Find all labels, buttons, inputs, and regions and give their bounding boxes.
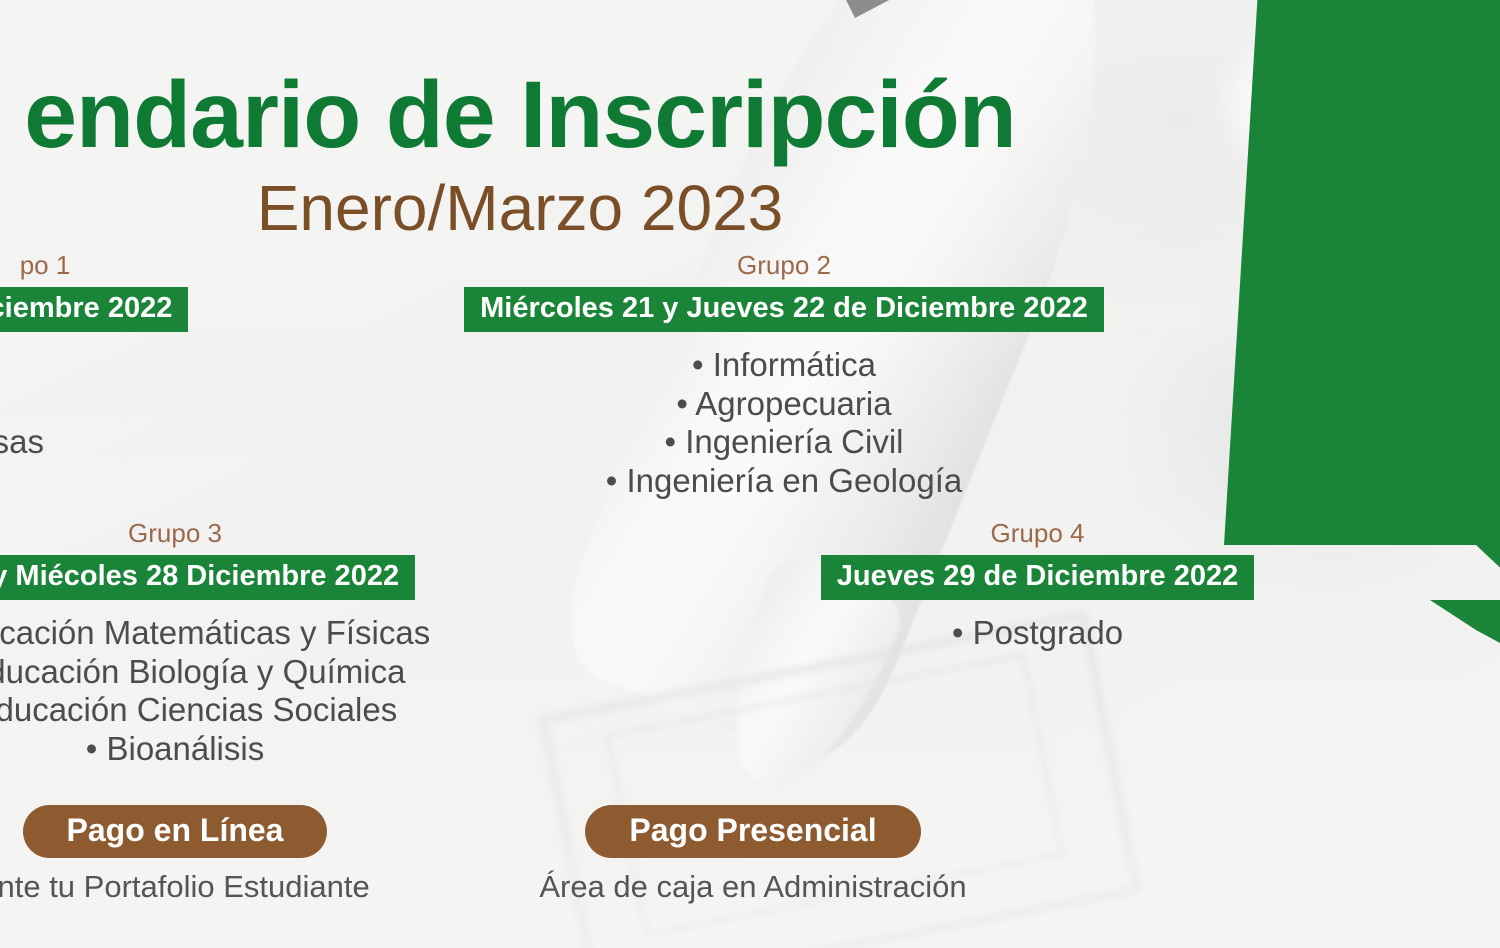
list-item: • Educación Matemáticas y Físicas	[0, 614, 540, 653]
list-item: • Ingeniería en Geología	[409, 462, 1159, 501]
group-label-2: Grupo 2	[409, 252, 1159, 278]
pago-presencial-note: Área de caja en Administración	[528, 871, 978, 902]
list-item: adeo	[0, 346, 330, 385]
group-items-4: • Postgrado	[745, 614, 1330, 653]
group-date-wrap-3: 27 y Miécoles 28 Diciembre 2022	[0, 555, 540, 600]
group-date-badge-1: de Diciembre 2022	[0, 287, 188, 332]
pago-en-linea-badge: Pago en Línea	[23, 805, 328, 858]
group-items-1: adeo bilidad n de Empresas cho	[0, 346, 330, 500]
list-item: • Educación Ciencias Sociales	[0, 691, 540, 730]
payment-option-in-person: Pago Presencial Área de caja en Administ…	[528, 805, 978, 902]
list-item: n de Empresas	[0, 423, 330, 462]
group-items-2: • Informática • Agropecuaria • Ingenierí…	[409, 346, 1159, 500]
group-label-1: po 1	[0, 252, 330, 278]
list-item: • Ingeniería Civil	[409, 423, 1159, 462]
list-item: bilidad	[0, 385, 330, 424]
group-card-2: Grupo 2 Miércoles 21 y Jueves 22 de Dici…	[409, 252, 1159, 500]
group-date-badge-3: 27 y Miécoles 28 Diciembre 2022	[0, 555, 415, 600]
list-item: cho	[0, 462, 330, 501]
pago-en-linea-note: ante tu Portafolio Estudiante	[0, 871, 465, 902]
group-items-3: • Educación Matemáticas y Físicas • Educ…	[0, 614, 540, 768]
group-date-wrap-4: Jueves 29 de Diciembre 2022	[745, 555, 1330, 600]
payment-option-online: Pago en Línea ante tu Portafolio Estudia…	[0, 805, 465, 902]
page-title: endario de Inscripción	[0, 68, 1100, 163]
list-item: • Bioanálisis	[0, 730, 540, 769]
group-date-badge-2: Miércoles 21 y Jueves 22 de Diciembre 20…	[464, 287, 1104, 332]
poster-content: endario de Inscripción Enero/Marzo 2023 …	[0, 0, 1500, 948]
group-date-wrap-1: de Diciembre 2022	[0, 287, 330, 332]
group-date-badge-4: Jueves 29 de Diciembre 2022	[821, 555, 1254, 600]
page-subtitle: Enero/Marzo 2023	[0, 176, 1100, 240]
list-item: • Postgrado	[745, 614, 1330, 653]
group-card-3: Grupo 3 27 y Miécoles 28 Diciembre 2022 …	[0, 520, 540, 768]
group-card-4: Grupo 4 Jueves 29 de Diciembre 2022 • Po…	[745, 520, 1330, 653]
group-date-wrap-2: Miércoles 21 y Jueves 22 de Diciembre 20…	[409, 287, 1159, 332]
group-card-1: po 1 de Diciembre 2022 adeo bilidad n de…	[0, 252, 330, 500]
list-item: • Agropecuaria	[409, 385, 1159, 424]
pago-presencial-badge: Pago Presencial	[585, 805, 920, 858]
list-item: • Informática	[409, 346, 1159, 385]
group-label-3: Grupo 3	[0, 520, 540, 546]
group-label-4: Grupo 4	[745, 520, 1330, 546]
list-item: • Educación Biología y Química	[0, 653, 540, 692]
